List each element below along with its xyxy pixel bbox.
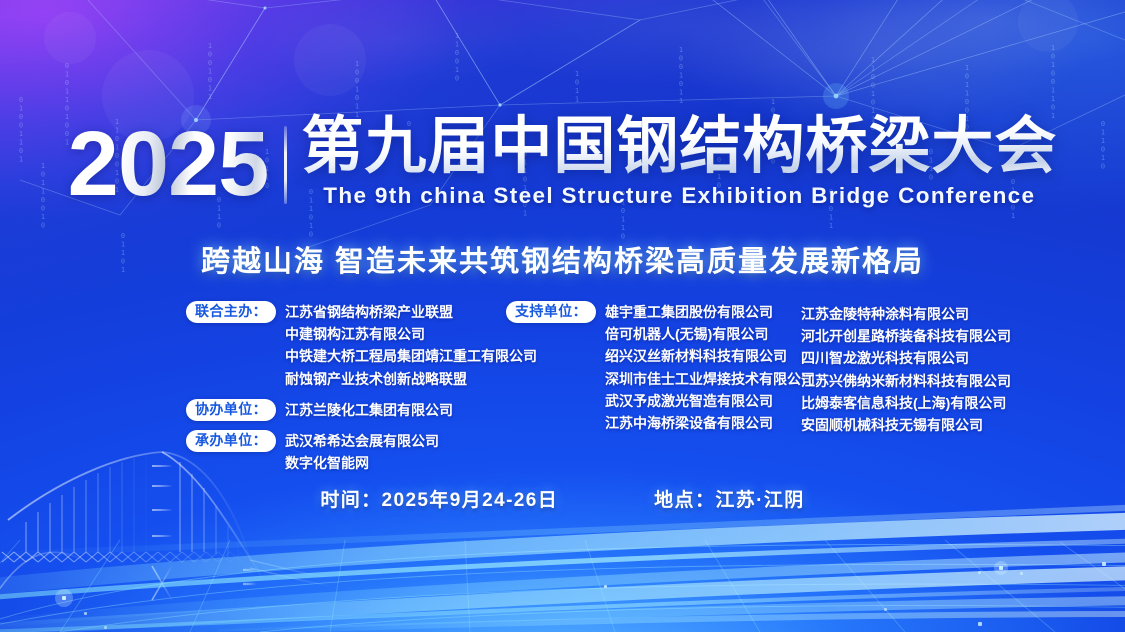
sponsor-name: 雄宇重工集团股份有限公司 <box>605 301 815 323</box>
sponsor-name: 安固顺机械科技无锡有限公司 <box>801 414 1031 436</box>
sponsor-name: 绍兴汉丝新材料科技有限公司 <box>605 345 815 367</box>
sponsor-name: 江苏兴佛纳米新材料科技有限公司 <box>801 370 1031 392</box>
headline-block: 2025 第九届中国钢结构桥梁大会 The 9th china Steel St… <box>0 112 1125 209</box>
sponsor-group-organizing-unit: 承办单位： 武汉希希达会展有限公司 数字化智能网 <box>186 430 506 474</box>
event-meta: 时间：2025年9月24-26日 地点：江苏·江阴 <box>0 485 1125 512</box>
sponsor-column-middle: 支持单位： 雄宇重工集团股份有限公司 倍可机器人(无锡)有限公司 绍兴汉丝新材料… <box>506 301 801 434</box>
sponsor-name: 中铁建大桥工程局集团靖江重工有限公司 <box>285 345 537 367</box>
sponsor-name: 四川智龙激光科技有限公司 <box>801 347 1031 369</box>
event-date: 时间：2025年9月24-26日 <box>320 485 558 512</box>
sponsor-label-organizing-unit: 承办单位： <box>186 430 276 452</box>
sponsor-name: 耐蚀钢产业技术创新战略联盟 <box>285 368 537 390</box>
sponsor-name: 江苏中海桥梁设备有限公司 <box>605 412 815 434</box>
sponsor-name: 武汉希希达会展有限公司 <box>285 430 439 452</box>
sponsor-names-right: 江苏金陵特种涂料有限公司 河北开创星路桥装备科技有限公司 四川智龙激光科技有限公… <box>801 303 1031 436</box>
year-title: 2025 <box>68 122 269 207</box>
conference-title-cn: 第九届中国钢结构桥梁大会 <box>301 112 1057 181</box>
sponsor-name: 中建钢构江苏有限公司 <box>285 323 537 345</box>
sponsors-section: 联合主办： 江苏省钢结构桥梁产业联盟 中建钢构江苏有限公司 中铁建大桥工程局集团… <box>186 301 1046 474</box>
sponsor-name: 武汉予成激光智造有限公司 <box>605 390 815 412</box>
sponsor-names-co-organizers: 江苏省钢结构桥梁产业联盟 中建钢构江苏有限公司 中铁建大桥工程局集团靖江重工有限… <box>285 301 537 390</box>
conference-banner: 01001101 10110010 0101101001 110100101 0… <box>0 0 1125 632</box>
sponsor-name: 数字化智能网 <box>285 452 439 474</box>
sponsor-group-co-organizers: 联合主办： 江苏省钢结构桥梁产业联盟 中建钢构江苏有限公司 中铁建大桥工程局集团… <box>186 301 506 390</box>
event-location: 地点：江苏·江阴 <box>654 485 805 512</box>
sponsor-label-supporting-units: 支持单位： <box>506 301 596 323</box>
sponsor-column-left: 联合主办： 江苏省钢结构桥梁产业联盟 中建钢构江苏有限公司 中铁建大桥工程局集团… <box>186 301 506 474</box>
sponsor-name: 河北开创星路桥装备科技有限公司 <box>801 325 1031 347</box>
conference-slogan: 跨越山海 智造未来共筑钢结构桥梁高质量发展新格局 <box>0 238 1125 280</box>
sponsor-name: 深圳市佳士工业焊接技术有限公司 <box>605 368 815 390</box>
sponsor-names-assisting-unit: 江苏兰陵化工集团有限公司 <box>285 399 453 421</box>
title-divider <box>284 126 287 204</box>
sponsor-name: 江苏兰陵化工集团有限公司 <box>285 399 453 421</box>
sponsor-names-supporting-units: 雄宇重工集团股份有限公司 倍可机器人(无锡)有限公司 绍兴汉丝新材料科技有限公司… <box>605 301 815 434</box>
sponsor-label-assisting-unit: 协办单位： <box>186 399 276 421</box>
sponsor-group-assisting-unit: 协办单位： 江苏兰陵化工集团有限公司 <box>186 399 506 421</box>
sponsor-column-right: 江苏金陵特种涂料有限公司 河北开创星路桥装备科技有限公司 四川智龙激光科技有限公… <box>801 301 1031 436</box>
sponsor-names-organizing-unit: 武汉希希达会展有限公司 数字化智能网 <box>285 430 439 474</box>
title-block: 第九届中国钢结构桥梁大会 The 9th china Steel Structu… <box>301 112 1057 209</box>
sponsor-label-co-organizers: 联合主办： <box>186 301 276 323</box>
sponsor-name: 比姆泰客信息科技(上海)有限公司 <box>801 392 1031 414</box>
sponsor-name: 江苏省钢结构桥梁产业联盟 <box>285 301 537 323</box>
sponsor-name: 江苏金陵特种涂料有限公司 <box>801 303 1031 325</box>
sponsor-name: 倍可机器人(无锡)有限公司 <box>605 323 815 345</box>
conference-title-en: The 9th china Steel Structure Exhibition… <box>301 183 1057 209</box>
sponsor-group-supporting-units: 支持单位： 雄宇重工集团股份有限公司 倍可机器人(无锡)有限公司 绍兴汉丝新材料… <box>506 301 801 434</box>
